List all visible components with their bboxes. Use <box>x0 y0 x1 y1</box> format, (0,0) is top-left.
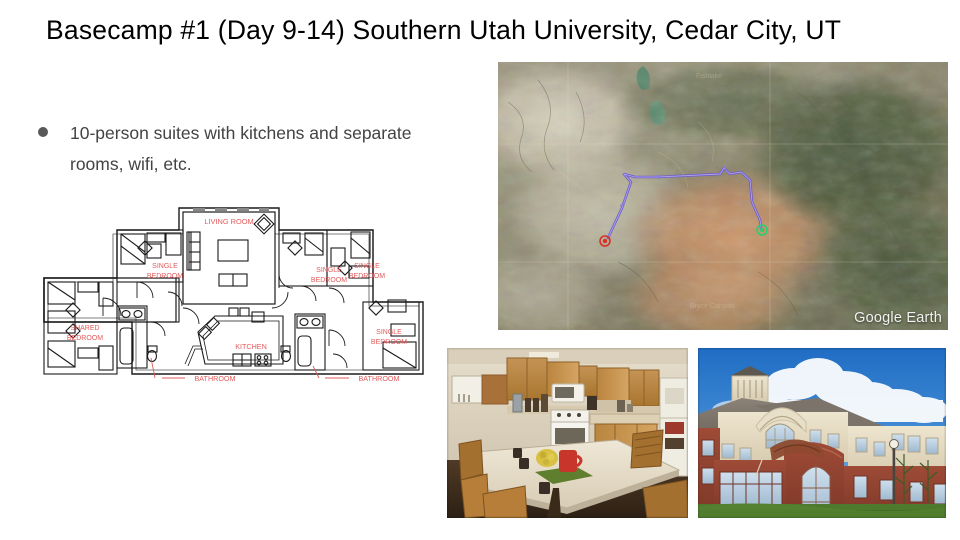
floorplan-label-shared-bedroom-b: BEDROOM <box>67 335 103 342</box>
floorplan-label-single-bedroom-4: SINGLE <box>376 329 402 336</box>
suite-kitchen-photo <box>447 348 688 518</box>
floorplan-label-kitchen: KITCHEN <box>235 342 267 351</box>
floorplan-label-single-bedroom-3: SINGLE <box>354 263 380 270</box>
floorplan-label-bathroom-left: BATHROOM <box>195 374 236 383</box>
floorplan-label-shared-bedroom: SHARED <box>70 325 99 332</box>
floorplan-label-single-bedroom-1: SINGLE <box>152 263 178 270</box>
floorplan-label-single-bedroom-3b: BEDROOM <box>349 273 385 280</box>
floorplan-label-single-bedroom-4b: BEDROOM <box>371 339 407 346</box>
bullet-list: 10-person suites with kitchens and separ… <box>38 118 458 180</box>
floorplan-label-single-bedroom-1b: BEDROOM <box>147 273 183 280</box>
floorplan-label-living-room: LIVING ROOM <box>204 217 253 226</box>
floorplan-diagram: LIVING ROOM SINGLE BEDROOM SHARED BEDROO… <box>33 196 448 386</box>
floorplan-label-single-bedroom-2b: BEDROOM <box>311 277 347 284</box>
svg-text:Bryce Canyon: Bryce Canyon <box>690 303 734 310</box>
bullet-item-label: 10-person suites with kitchens and separ… <box>70 118 458 180</box>
floorplan-label-bathroom-right: BATHROOM <box>359 374 400 383</box>
residence-hall-photo <box>698 348 946 518</box>
bullet-point-icon <box>38 127 48 137</box>
svg-text:Fishlake: Fishlake <box>696 73 722 80</box>
satellite-map-image: Fishlake Bryce Canyon Google Earth <box>498 62 948 330</box>
list-item: 10-person suites with kitchens and separ… <box>38 118 458 180</box>
floorplan-label-single-bedroom-2: SINGLE <box>316 267 342 274</box>
page-title: Basecamp #1 (Day 9-14) Southern Utah Uni… <box>46 12 926 48</box>
